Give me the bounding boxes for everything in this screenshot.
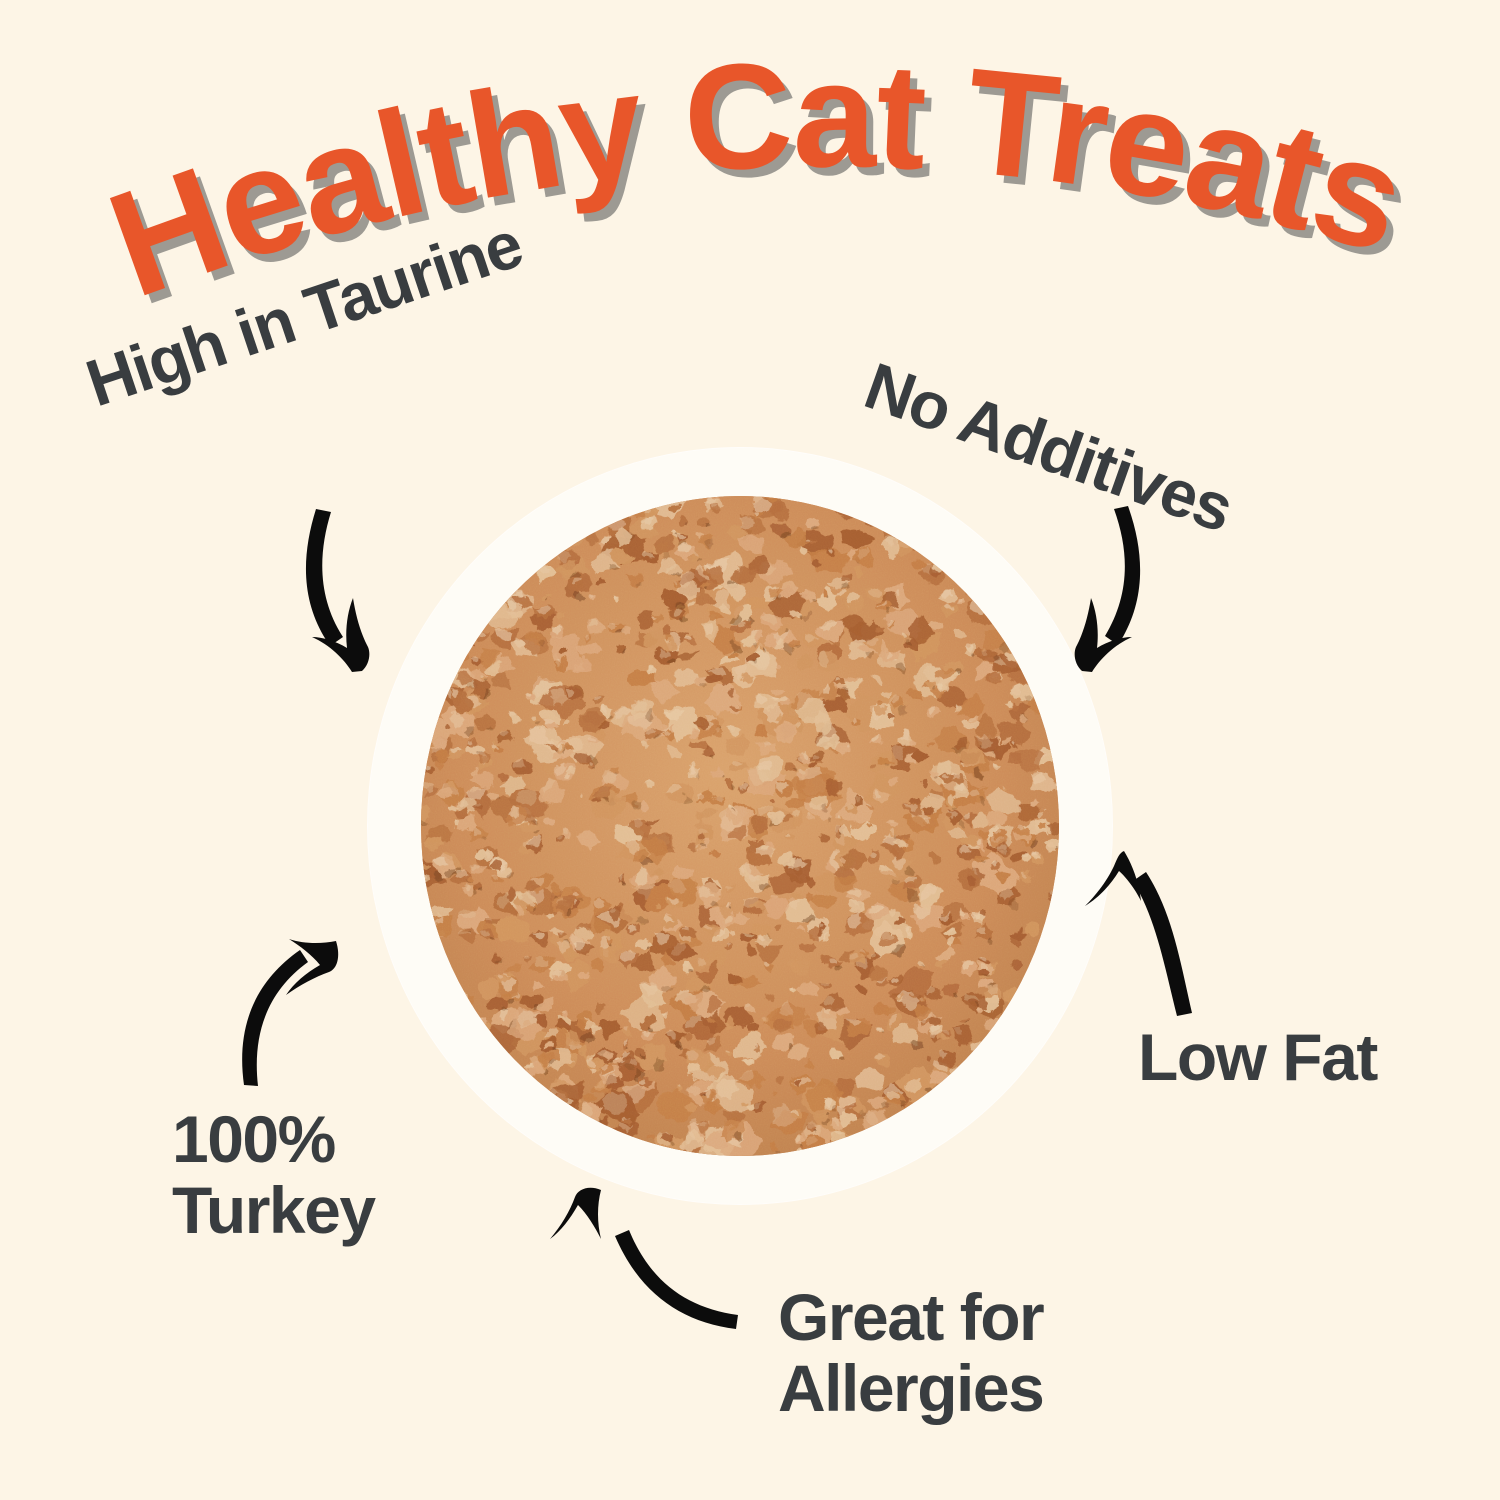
product-image-ring	[368, 448, 1112, 1204]
arrow-additives-icon	[1075, 506, 1140, 672]
feature-label-low-fat: Low Fat	[1138, 1022, 1377, 1093]
page-title: Healthy Cat Treats Healthy Cat Treats	[0, 40, 1500, 340]
arrow-allergies-icon	[550, 1188, 738, 1329]
product-image	[421, 496, 1059, 1156]
feature-label-great-for-allergies: Great for Allergies	[778, 1282, 1043, 1423]
infographic-canvas: Healthy Cat Treats Healthy Cat Treats	[0, 0, 1500, 1500]
arrow-turkey-icon	[242, 939, 338, 1086]
feature-label-100-percent-turkey: 100% Turkey	[172, 1104, 375, 1245]
arrow-taurine-icon	[306, 509, 369, 672]
